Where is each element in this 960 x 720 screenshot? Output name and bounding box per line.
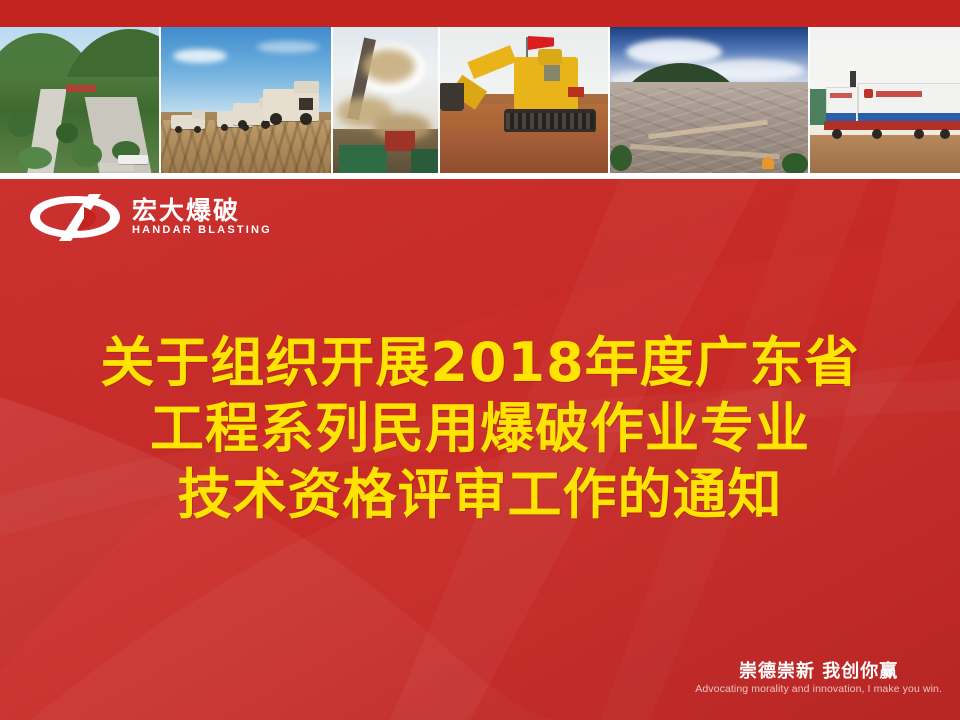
haul-truck-front <box>263 89 319 121</box>
wheel <box>261 120 270 129</box>
excavator-bucket <box>440 83 464 111</box>
wheel <box>872 129 882 139</box>
truck-logo-icon <box>864 89 873 98</box>
cab-text <box>830 93 852 98</box>
cab-blue-stripe <box>826 113 856 121</box>
tree-3 <box>72 143 102 167</box>
company-logo: 宏大爆破 HANDAR BLASTING <box>28 192 272 242</box>
cloud-2 <box>257 41 319 53</box>
wheel <box>221 124 228 131</box>
cloud-1 <box>173 49 227 63</box>
wheel <box>194 126 201 133</box>
structure-green-2 <box>411 149 438 173</box>
slide-title: 关于组织开展2018年度广东省 工程系列民用爆破作业专业 技术资格评审工作的通知 <box>0 330 960 528</box>
wheel <box>300 113 312 125</box>
banner-bottom-gap <box>0 173 960 179</box>
title-line-2: 工程系列民用爆破作业专业 <box>0 396 960 462</box>
cloud-streak-1 <box>626 39 722 65</box>
cabin-window <box>544 65 560 81</box>
logo-wordmark: 宏大爆破 HANDAR BLASTING <box>132 198 272 236</box>
truck-detail <box>299 98 313 110</box>
banner-photo-blasting <box>333 27 440 173</box>
structure-red <box>385 131 415 151</box>
tree-1 <box>8 115 34 137</box>
haul-truck-3 <box>171 115 205 129</box>
wheel <box>270 113 282 125</box>
side-marking <box>568 87 584 97</box>
ground <box>810 135 960 173</box>
track-links <box>506 113 594 129</box>
structure-green <box>339 145 387 173</box>
green-equipment <box>810 89 826 125</box>
top-red-band <box>0 0 960 27</box>
presentation-slide: 宏大爆破 HANDAR BLASTING 关于组织开展2018年度广东省 工程系… <box>0 0 960 720</box>
wheel <box>914 129 924 139</box>
truck-chassis <box>824 121 960 130</box>
ground-structure <box>100 163 134 171</box>
wheel <box>238 120 247 129</box>
truck-cab <box>192 110 205 119</box>
slogan-chinese: 崇德崇新 我创你赢 <box>695 661 942 683</box>
shrub-1 <box>18 147 52 169</box>
foreground-tree <box>610 145 632 171</box>
logo-english-name: HANDAR BLASTING <box>132 225 272 236</box>
banner-photo-excavator <box>440 27 610 173</box>
truck-blue-stripe <box>858 113 960 121</box>
site-umbrella <box>762 157 774 169</box>
photo-banner-strip <box>0 27 960 173</box>
truck-chinese-text <box>876 91 922 97</box>
building-roof <box>66 85 96 92</box>
exhaust-stack <box>850 71 856 87</box>
flag-pole <box>526 37 528 59</box>
banner-photo-open-pit <box>610 27 810 173</box>
wheel <box>940 129 950 139</box>
wheel <box>832 129 842 139</box>
slogan-english: Advocating morality and innovation, I ma… <box>695 682 942 698</box>
title-line-1: 关于组织开展2018年度广东省 <box>0 330 960 396</box>
banner-photo-green-campus <box>0 27 161 173</box>
excavator-roof <box>538 49 562 65</box>
foreground-bush <box>782 153 808 173</box>
tree-2 <box>56 123 78 143</box>
truck-cab <box>294 81 319 93</box>
title-line-3: 技术资格评审工作的通知 <box>0 462 960 528</box>
foreground-dirt <box>440 132 608 173</box>
footer-slogan: 崇德崇新 我创你赢 Advocating morality and innova… <box>695 661 942 698</box>
banner-photo-haul-trucks <box>161 27 333 173</box>
dust-cloud-top <box>363 49 415 83</box>
wheel <box>175 126 182 133</box>
banner-photo-mixing-truck <box>810 27 960 173</box>
logo-chinese-name: 宏大爆破 <box>132 198 272 224</box>
handar-swoosh-icon <box>28 192 122 242</box>
